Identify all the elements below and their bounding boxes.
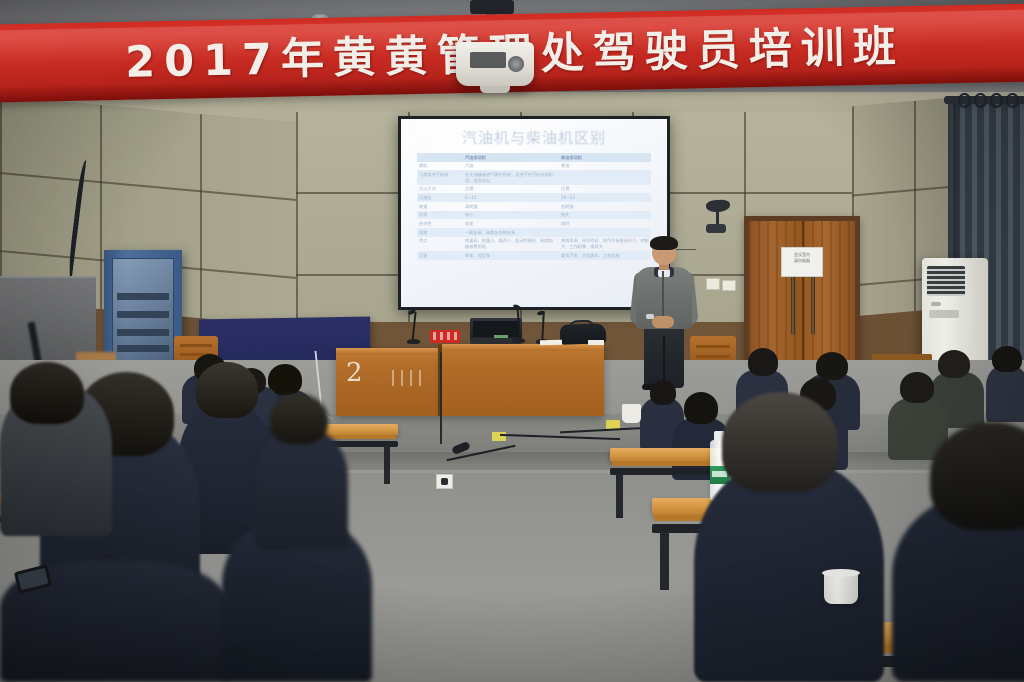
table-cell: 较小 [463, 211, 559, 220]
papers [540, 340, 562, 345]
table-row: 压缩比 6~10 16~22 [417, 193, 651, 202]
classroom-photo: 汽油机与柴油机区别 汽油发动机 柴油发动机 燃料 汽油 柴油 可燃混合气形成 在… [0, 0, 1024, 682]
attendee-head [10, 362, 84, 424]
glasses-icon [676, 249, 696, 254]
attendee-head [650, 380, 676, 405]
table-row: 特点 转速高、质量小、噪声小、起动性能好、制造和维修费用低 热效率高、经济性好、… [417, 237, 651, 251]
ac-logo [931, 302, 941, 306]
table-header-cell: 柴油发动机 [559, 153, 651, 162]
attendee [256, 430, 348, 550]
table-row: 点火方式 点燃 压燃 [417, 185, 651, 194]
presenter-hands [652, 316, 674, 328]
table-header-cell: 汽油发动机 [463, 153, 559, 162]
table-cell: 低转速 [559, 202, 651, 211]
desk-cable [440, 352, 450, 444]
curtain-ring [974, 93, 987, 108]
table-row: 转速 高转速 低转速 [417, 202, 651, 211]
table-cell: 高转速 [463, 202, 559, 211]
entrance-door[interactable]: 会议室内 请勿吸烟 [744, 216, 860, 364]
table-header-cell [417, 153, 463, 162]
projector-base [480, 86, 510, 93]
podium-number: 2 [346, 358, 363, 388]
attendee-head [722, 392, 838, 492]
table-row: 可燃混合气形成 在化油器或进气管中形成，混合气在气缸外部形成，混合均匀 [417, 170, 651, 184]
table-cell: 压缩比 [417, 193, 463, 202]
floor-power-socket[interactable] [436, 474, 453, 489]
red-name-card [430, 330, 460, 343]
podium-desk: 2 [336, 348, 442, 416]
table-cell: 经济性 [417, 219, 463, 228]
wall-switch[interactable] [706, 278, 720, 290]
table-cell: 可燃混合气形成 [417, 170, 463, 184]
table-cell: 排放 [417, 228, 463, 237]
door-sign-line2: 请勿吸烟 [782, 258, 822, 264]
table-cell: 在化油器或进气管中形成，混合气在气缸外部形成，混合均匀 [463, 170, 559, 184]
projector-bracket [470, 0, 514, 14]
table-cell: 点火方式 [417, 185, 463, 194]
table-cell: 16~22 [559, 193, 651, 202]
paper-cup[interactable] [824, 572, 858, 604]
table-cell: 压燃 [559, 185, 651, 194]
table-row: 经济性 较差 较好 [417, 219, 651, 228]
paper-cup[interactable] [622, 404, 641, 423]
table-cell: 功率 [417, 211, 463, 220]
table-cell: 用途 [417, 251, 463, 260]
presenter-trousers [644, 326, 684, 388]
table-cell: 转速 [417, 202, 463, 211]
wristwatch [646, 314, 654, 319]
door-handle[interactable] [811, 273, 815, 335]
curtain-ring [990, 93, 1003, 108]
attendee-head [270, 394, 328, 444]
table-cell: 较差 [463, 219, 559, 228]
table-cell [559, 228, 651, 237]
attendee-head [748, 348, 778, 376]
table-row: 用途 轿车、轻型车 载货汽车、大型客车、工程机械 [417, 251, 651, 260]
table-cell: 6~10 [463, 193, 559, 202]
slide-comparison-table: 汽油发动机 柴油发动机 燃料 汽油 柴油 可燃混合气形成 在化油器或进气管中形成… [417, 153, 651, 260]
table-cell: 较好 [559, 219, 651, 228]
attendee-head [196, 362, 258, 418]
papers [588, 340, 604, 345]
table-cell: 一氧化碳、碳氢化合物较多 [463, 228, 559, 237]
projector-vent-icon [470, 52, 506, 68]
door-split [802, 221, 804, 364]
table-header-row: 汽油发动机 柴油发动机 [417, 153, 651, 162]
table-row: 排放 一氧化碳、碳氢化合物较多 [417, 228, 651, 237]
table-cell [559, 170, 651, 184]
microphone[interactable] [404, 308, 420, 344]
table-cell: 点燃 [463, 185, 559, 194]
wall-outlet[interactable] [722, 280, 736, 291]
attendee [986, 366, 1024, 422]
table-cell: 转速高、质量小、噪声小、起动性能好、制造和维修费用低 [463, 237, 559, 251]
curtain-ring [1006, 93, 1019, 108]
ac-vent-icon [927, 266, 965, 296]
slide-title: 汽油机与柴油机区别 [401, 127, 667, 148]
table-cell: 汽油 [463, 162, 559, 171]
table-cell: 燃料 [417, 162, 463, 171]
ac-control-panel[interactable] [929, 310, 959, 318]
wall-speaker-icon [706, 224, 726, 233]
podium-marks [392, 370, 422, 386]
attendee-head [816, 352, 848, 380]
table-cell: 柴油 [559, 162, 651, 171]
door-sign: 会议室内 请勿吸烟 [781, 247, 823, 277]
microphone[interactable] [508, 304, 526, 344]
table-cell: 较大 [559, 211, 651, 220]
door-handle[interactable] [791, 273, 795, 335]
microphone[interactable] [534, 310, 550, 344]
attendee-head [900, 372, 934, 403]
curtain-ring [958, 93, 971, 108]
presenter [630, 238, 696, 388]
projector-lens-icon [508, 56, 524, 72]
attendee-head [684, 392, 718, 424]
table-cell: 轿车、轻型车 [463, 251, 559, 260]
table-row: 功率 较小 较大 [417, 211, 651, 220]
table-row: 燃料 汽油 柴油 [417, 162, 651, 171]
attendee-head [938, 350, 970, 378]
rack-glass-door[interactable] [112, 258, 174, 367]
table-cell: 特点 [417, 237, 463, 251]
presenter-hair [650, 236, 678, 250]
presenter-desk [442, 344, 604, 416]
attendee-head [992, 346, 1022, 372]
